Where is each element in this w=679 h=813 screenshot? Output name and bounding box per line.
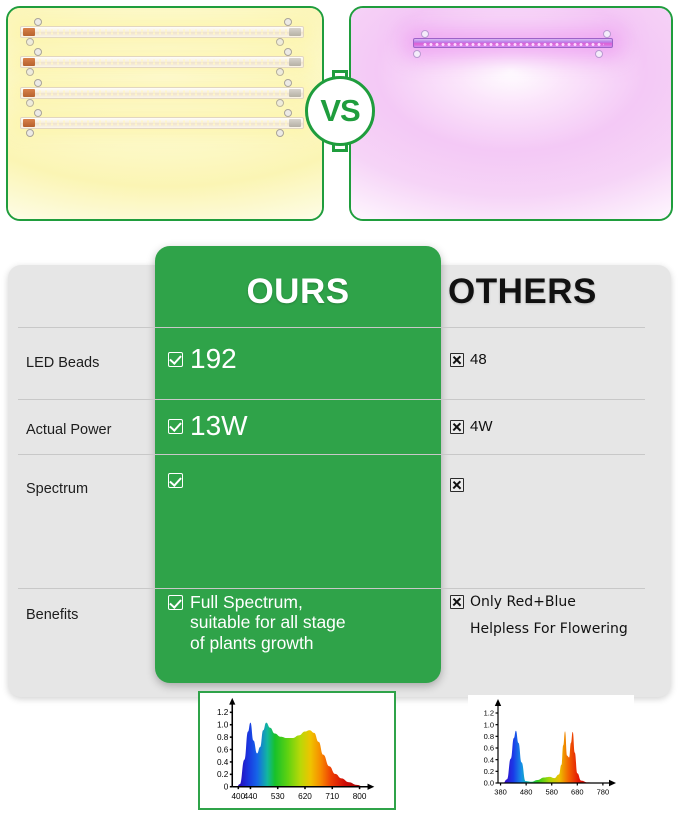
strip-end-cap-left	[23, 89, 35, 97]
value-text: 4W	[470, 418, 493, 435]
svg-text:530: 530	[271, 792, 285, 801]
svg-text:0.0: 0.0	[484, 779, 494, 788]
value-ours-actual-power: 13W	[168, 412, 248, 440]
mount-bracket-icon	[595, 50, 603, 58]
svg-text:0.4: 0.4	[217, 758, 229, 767]
check-icon	[168, 419, 183, 434]
mount-bracket-icon	[26, 68, 34, 76]
led-strip-purple	[413, 38, 613, 48]
mount-bracket-icon	[276, 38, 284, 46]
spectrum-others-marker	[450, 476, 470, 494]
x-icon	[450, 353, 464, 367]
row-divider	[18, 327, 645, 328]
svg-text:1.0: 1.0	[217, 721, 229, 730]
x-icon	[450, 420, 464, 434]
x-icon	[450, 478, 464, 492]
value-others-led-beads: 48	[450, 351, 487, 368]
row-label-spectrum: Spectrum	[26, 481, 88, 497]
spectrum-chart-others-svg: 0.00.20.40.60.81.01.2380480580680780	[468, 695, 634, 805]
check-icon	[168, 595, 183, 610]
spectrum-ours-marker	[168, 472, 190, 490]
svg-text:710: 710	[325, 792, 339, 801]
others-benefit-line-1: Only Red+Blue	[450, 594, 628, 610]
comparison-grid: OURS OTHERS LED Beads 192 48 Actual Powe…	[0, 232, 679, 690]
svg-text:620: 620	[298, 792, 312, 801]
vs-badge: VS	[305, 76, 375, 146]
strip-end-cap-left	[23, 28, 35, 36]
warm-light-glow	[8, 8, 322, 219]
svg-text:1.0: 1.0	[484, 720, 494, 729]
hero-panel-ours	[6, 6, 324, 221]
led-strip-warm	[20, 117, 304, 129]
svg-text:480: 480	[520, 788, 533, 797]
mount-bracket-icon	[26, 129, 34, 137]
mount-bracket-icon	[34, 109, 42, 117]
row-divider	[18, 399, 645, 400]
row-divider	[18, 588, 645, 589]
vs-label: VS	[305, 76, 375, 146]
mount-bracket-icon	[284, 48, 292, 56]
led-strip-warm	[20, 87, 304, 99]
value-text: 48	[470, 351, 487, 368]
hero-panel-others	[349, 6, 673, 221]
mount-bracket-icon	[34, 48, 42, 56]
benefits-text: Full Spectrum, suitable for all stage of…	[190, 592, 346, 653]
mount-bracket-icon	[276, 129, 284, 137]
led-strip-warm	[20, 26, 304, 38]
svg-text:780: 780	[597, 788, 610, 797]
mount-bracket-icon	[276, 99, 284, 107]
row-divider	[18, 454, 645, 455]
strip-end-cap-right	[289, 119, 301, 127]
value-ours-benefits: Full Spectrum, suitable for all stage of…	[168, 592, 428, 653]
svg-text:1.2: 1.2	[484, 709, 494, 718]
value-text: 192	[190, 345, 237, 373]
hero-comparison: VS	[0, 0, 679, 232]
check-icon	[168, 473, 183, 488]
value-others-actual-power: 4W	[450, 418, 493, 435]
mount-bracket-icon	[276, 68, 284, 76]
mount-bracket-icon	[26, 99, 34, 107]
comparison-table: OURS OTHERS LED Beads 192 48 Actual Powe…	[0, 232, 679, 690]
svg-text:0.2: 0.2	[484, 767, 494, 776]
spectrum-chart-others: 0.00.20.40.60.81.01.2380480580680780	[468, 695, 634, 805]
strip-end-cap-left	[23, 119, 35, 127]
column-header-others: OTHERS	[448, 272, 597, 312]
x-icon	[450, 595, 464, 609]
svg-text:0: 0	[224, 783, 229, 792]
value-text: 13W	[190, 412, 248, 440]
strip-end-cap-right	[289, 89, 301, 97]
svg-text:0.6: 0.6	[484, 744, 494, 753]
value-others-benefits: Only Red+Blue Helpless For Flowering	[450, 594, 628, 637]
svg-text:0.6: 0.6	[217, 745, 229, 754]
others-benefit-line-2: Helpless For Flowering	[470, 621, 628, 637]
svg-text:380: 380	[494, 788, 507, 797]
svg-text:680: 680	[571, 788, 584, 797]
svg-text:0.4: 0.4	[484, 755, 494, 764]
mount-bracket-icon	[284, 79, 292, 87]
check-icon	[168, 352, 183, 367]
mount-bracket-icon	[413, 50, 421, 58]
led-strip-warm	[20, 56, 304, 68]
mount-bracket-icon	[421, 30, 429, 38]
column-header-ours: OURS	[155, 272, 441, 312]
row-label-actual-power: Actual Power	[26, 422, 111, 438]
svg-text:580: 580	[545, 788, 558, 797]
svg-text:0.8: 0.8	[484, 732, 494, 741]
svg-text:1.2: 1.2	[217, 708, 229, 717]
mount-bracket-icon	[284, 109, 292, 117]
spectrum-chart-ours-svg: 00.20.40.60.81.01.2400440530620710800	[200, 693, 394, 808]
svg-text:440: 440	[244, 792, 258, 801]
row-label-led-beads: LED Beads	[26, 355, 99, 371]
value-ours-led-beads: 192	[168, 345, 237, 373]
mount-bracket-icon	[284, 18, 292, 26]
mount-bracket-icon	[26, 38, 34, 46]
spectrum-chart-ours: 00.20.40.60.81.01.2400440530620710800	[198, 691, 396, 810]
row-label-benefits: Benefits	[26, 607, 78, 623]
mount-bracket-icon	[34, 79, 42, 87]
svg-text:800: 800	[353, 792, 367, 801]
svg-text:0.2: 0.2	[217, 770, 229, 779]
svg-text:0.8: 0.8	[217, 733, 229, 742]
strip-end-cap-left	[23, 58, 35, 66]
value-text: Only Red+Blue	[470, 594, 576, 610]
strip-end-cap-right	[289, 58, 301, 66]
mount-bracket-icon	[34, 18, 42, 26]
mount-bracket-icon	[603, 30, 611, 38]
strip-end-cap-right	[289, 28, 301, 36]
